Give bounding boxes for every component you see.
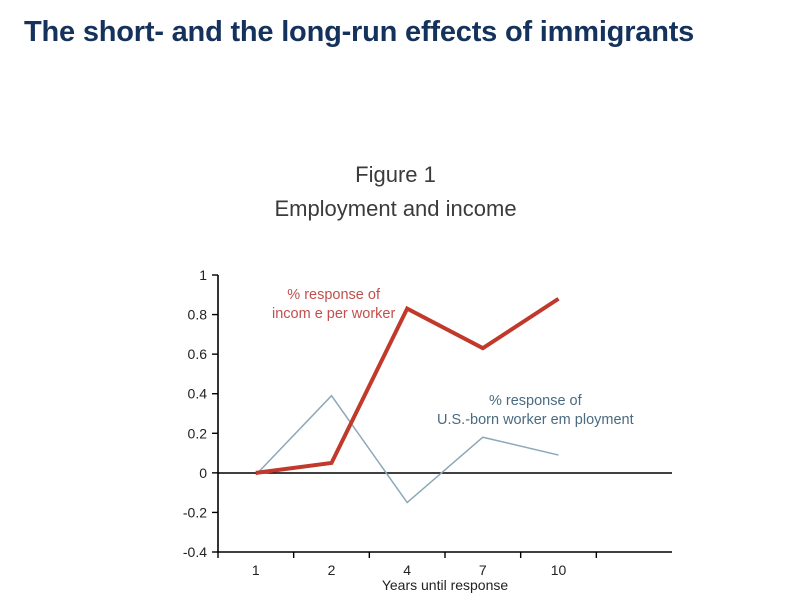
annotation-income: % response of incom e per worker <box>272 286 395 324</box>
x-axis-title: Years until response <box>382 577 509 593</box>
annotation-employment-line1: % response of <box>437 392 634 411</box>
series-line-income <box>256 299 559 473</box>
y-tick-label: 0 <box>199 465 207 481</box>
y-tick-label: -0.2 <box>183 504 207 520</box>
annotation-employment-line2: U.S.-born worker em ployment <box>437 411 634 430</box>
annotation-income-line1: % response of <box>272 286 395 305</box>
x-axis-tick-labels: 124710 <box>252 562 567 578</box>
x-tick-label: 7 <box>479 562 487 578</box>
y-tick-label: 1 <box>199 267 207 283</box>
y-tick-label: 0.2 <box>188 425 208 441</box>
y-tick-label: 0.8 <box>188 307 208 323</box>
y-tick-label: 0.4 <box>188 386 208 402</box>
annotation-income-line2: incom e per worker <box>272 305 395 324</box>
y-axis-tick-labels: 10.80.60.40.20-0.2-0.4 <box>183 267 207 560</box>
x-tick-label: 1 <box>252 562 260 578</box>
annotation-employment: % response of U.S.-born worker em ployme… <box>437 392 634 430</box>
plot-canvas: 10.80.60.40.20-0.2-0.4 124710 Years unti… <box>0 0 791 611</box>
y-tick-label: -0.4 <box>183 544 207 560</box>
figure-1-chart: Figure 1 Employment and income 10.80.60.… <box>0 0 791 611</box>
x-tick-label: 2 <box>328 562 336 578</box>
x-tick-label: 10 <box>551 562 567 578</box>
x-tick-label: 4 <box>403 562 411 578</box>
y-axis-ticks <box>212 275 218 552</box>
x-axis-ticks <box>218 552 596 558</box>
y-tick-label: 0.6 <box>188 346 208 362</box>
